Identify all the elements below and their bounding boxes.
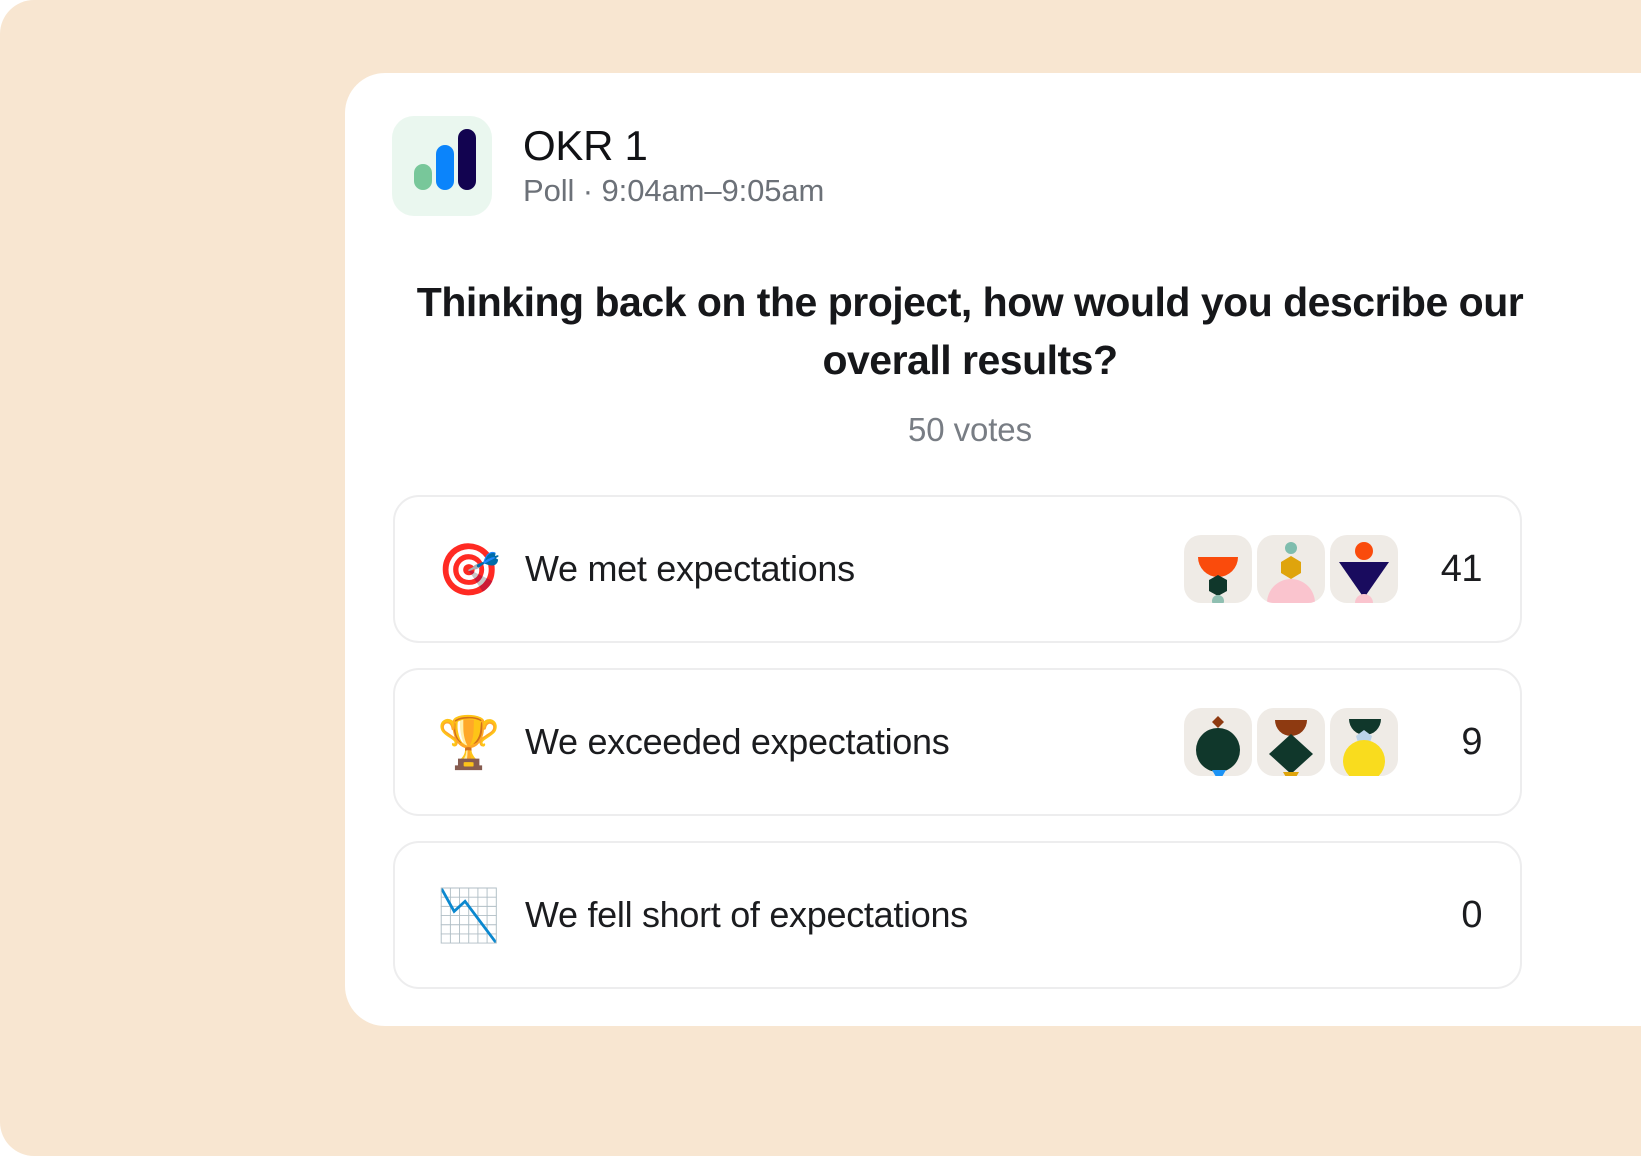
poll-option-row[interactable]: 📉 We fell short of expectations 0 [393, 841, 1522, 989]
voter-avatar-5[interactable] [1257, 708, 1325, 776]
poll-question: Thinking back on the project, how would … [405, 273, 1535, 389]
poll-option-count: 0 [1426, 894, 1482, 937]
trophy-icon: 🏆 [437, 717, 503, 768]
poll-options-list: 🎯 We met expectations [393, 495, 1522, 989]
voter-avatar-3[interactable] [1330, 535, 1398, 603]
poll-option-count: 41 [1426, 548, 1482, 591]
bar-chart-icon [392, 116, 492, 216]
page-title: OKR 1 [523, 122, 824, 169]
poll-option-label: We fell short of expectations [525, 894, 1426, 936]
poll-option-row[interactable]: 🎯 We met expectations [393, 495, 1522, 643]
question-block: Thinking back on the project, how would … [405, 273, 1535, 449]
poll-header-text: OKR 1 Poll · 9:04am–9:05am [523, 122, 824, 209]
bar-chart-bar-2 [436, 145, 454, 190]
voter-avatar-4[interactable] [1184, 708, 1252, 776]
vote-total-label: 50 votes [405, 411, 1535, 449]
poll-option-label: We met expectations [525, 548, 1184, 590]
voter-avatar-1[interactable] [1184, 535, 1252, 603]
poll-option-label: We exceeded expectations [525, 721, 1184, 763]
voter-avatars[interactable] [1184, 535, 1398, 603]
poll-option-count: 9 [1426, 721, 1482, 764]
voter-avatar-6[interactable] [1330, 708, 1398, 776]
bar-chart-bar-1 [414, 164, 432, 190]
poll-card: OKR 1 Poll · 9:04am–9:05am Thinking back… [345, 73, 1641, 1026]
bar-chart-bar-3 [458, 129, 476, 190]
dart-icon: 🎯 [437, 544, 503, 595]
poll-meta: Poll · 9:04am–9:05am [523, 172, 824, 209]
voter-avatar-2[interactable] [1257, 535, 1325, 603]
poll-header: OKR 1 Poll · 9:04am–9:05am [392, 116, 824, 216]
poll-option-row[interactable]: 🏆 We exceeded expectations [393, 668, 1522, 816]
page-canvas: OKR 1 Poll · 9:04am–9:05am Thinking back… [0, 0, 1641, 1156]
voter-avatars[interactable] [1184, 708, 1398, 776]
chart-decreasing-icon: 📉 [437, 890, 503, 941]
